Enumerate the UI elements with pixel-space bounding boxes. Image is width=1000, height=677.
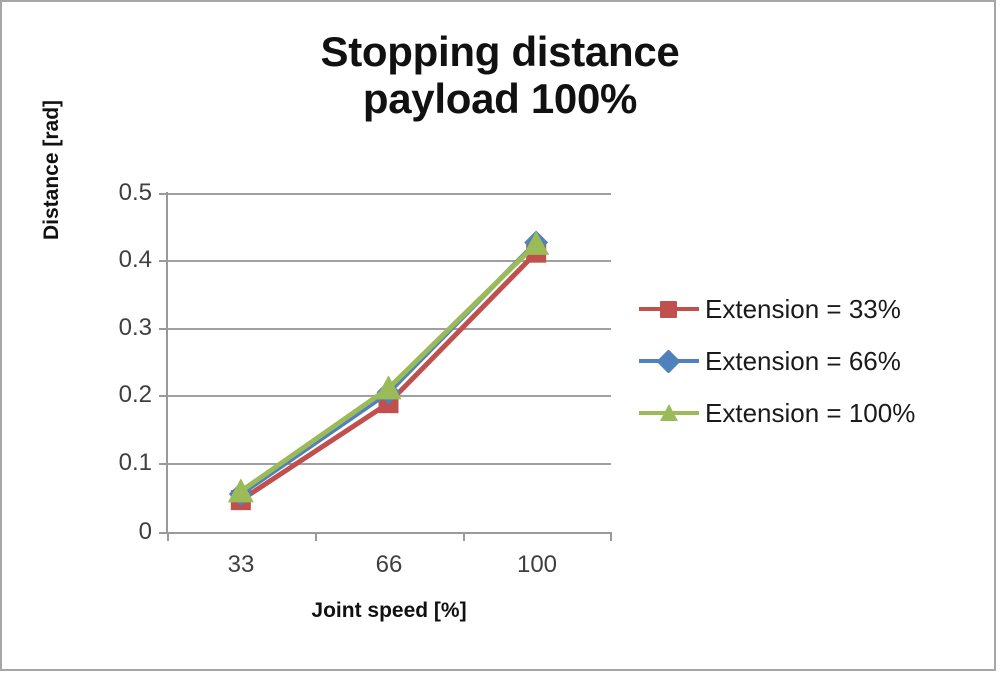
series-triangle (228, 231, 549, 503)
legend-key-square-icon (639, 296, 699, 322)
legend-key-diamond-icon (639, 348, 699, 374)
legend-item-extension-100[interactable]: Extension = 100% (639, 387, 989, 439)
legend-key-triangle-icon (639, 400, 699, 426)
legend-label: Extension = 100% (705, 400, 915, 426)
legend-label: Extension = 33% (705, 296, 901, 322)
chart-container: Stopping distance payload 100% Distance … (0, 0, 996, 671)
chart-legend: Extension = 33% Extension = 66% Extensio… (639, 283, 989, 439)
legend-item-extension-33[interactable]: Extension = 33% (639, 283, 989, 335)
series-line (241, 244, 536, 491)
series-line (241, 242, 536, 494)
legend-label: Extension = 66% (705, 348, 901, 374)
legend-item-extension-66[interactable]: Extension = 66% (639, 335, 989, 387)
